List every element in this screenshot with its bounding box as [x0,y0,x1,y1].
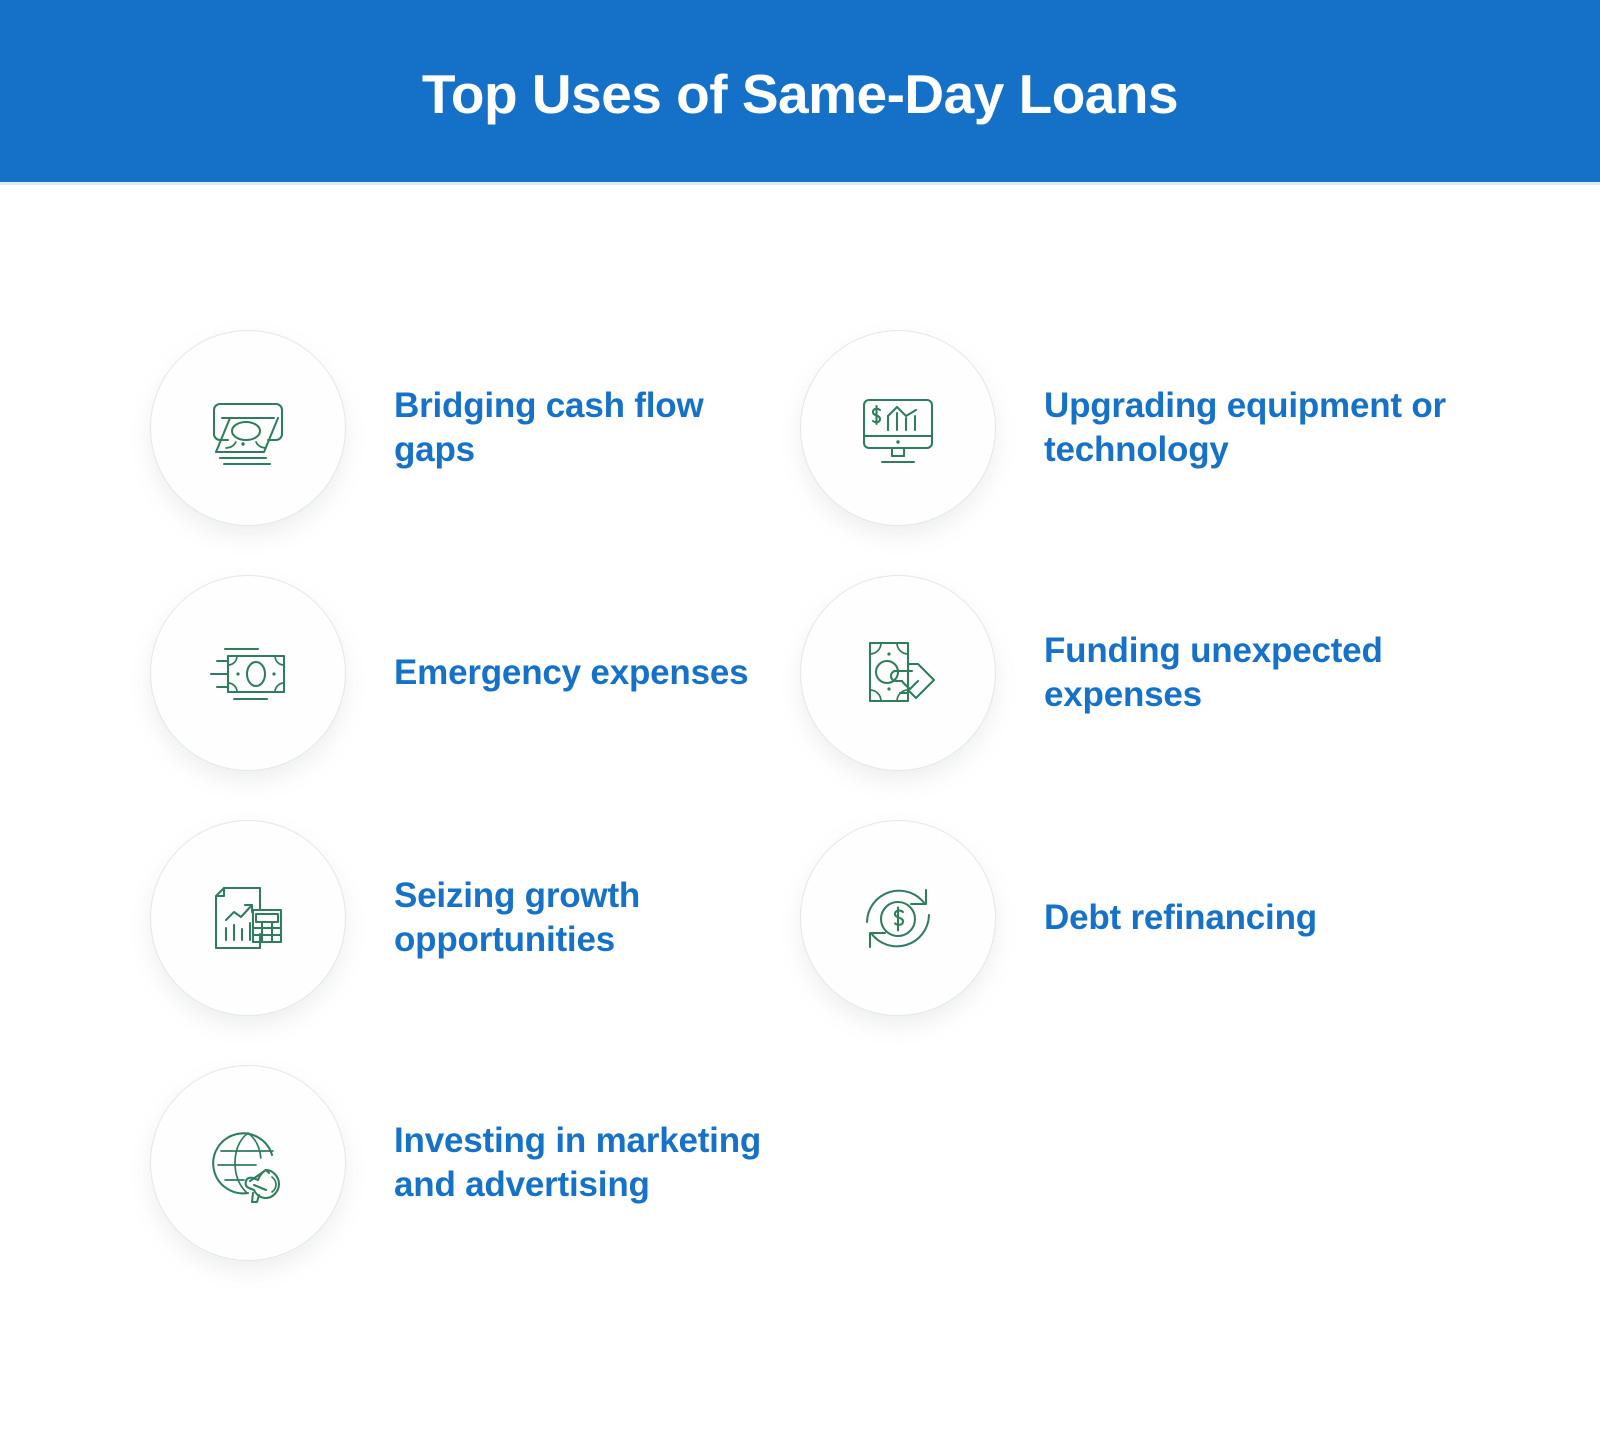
list-item-emergency-expenses[interactable]: Emergency expenses [150,575,748,771]
list-item-label: Investing in marketing and advertising [394,1119,770,1207]
icon-bubble [150,820,346,1016]
list-item-bridging-cash-flow-gaps[interactable]: Bridging cash flow gaps [150,330,770,526]
icon-bubble [800,330,996,526]
hand-holding-banknote-icon [848,623,948,723]
list-item-label: Debt refinancing [1044,896,1317,940]
infographic-page: Top Uses of Same-Day Loans [0,0,1600,1438]
page-title: Top Uses of Same-Day Loans [422,58,1178,125]
list-item-label: Funding unexpected expenses [1044,629,1474,717]
list-item-seizing-growth-opportunities[interactable]: Seizing growth opportunities [150,820,770,1016]
list-item-upgrading-equipment-or-technology[interactable]: Upgrading equipment or technology [800,330,1474,526]
icon-bubble [800,575,996,771]
icon-bubble [800,820,996,1016]
list-item-label: Emergency expenses [394,651,748,695]
atm-cash-dispense-icon [198,378,298,478]
list-item-funding-unexpected-expenses[interactable]: Funding unexpected expenses [800,575,1474,771]
header-bar: Top Uses of Same-Day Loans [0,0,1600,182]
icon-bubble [150,330,346,526]
fast-banknote-icon [198,623,298,723]
list-item-label: Bridging cash flow gaps [394,384,770,472]
monitor-dollar-chart-icon [848,378,948,478]
globe-megaphone-icon [198,1113,298,1213]
icon-bubble [150,1065,346,1261]
items-grid: Bridging cash flow gaps [0,182,1600,1438]
dollar-refresh-cycle-icon [848,868,948,968]
list-item-label: Upgrading equipment or technology [1044,384,1474,472]
list-item-label: Seizing growth opportunities [394,874,770,962]
list-item-investing-in-marketing-and-advertising[interactable]: Investing in marketing and advertising [150,1065,770,1261]
icon-bubble [150,575,346,771]
growth-report-calculator-icon [198,868,298,968]
list-item-debt-refinancing[interactable]: Debt refinancing [800,820,1317,1016]
